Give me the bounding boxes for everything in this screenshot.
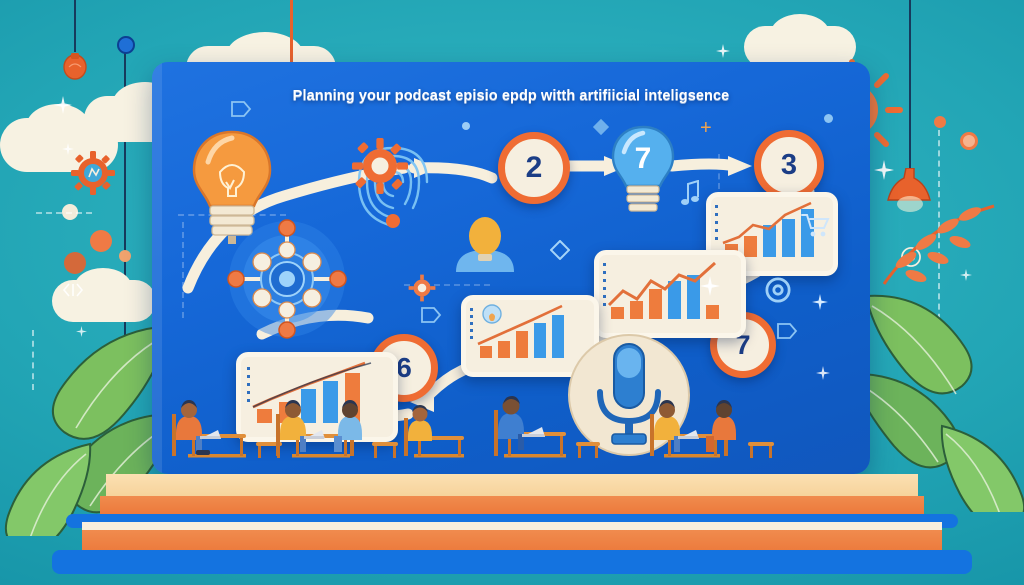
hanging-bulb-icon	[62, 50, 88, 82]
person-desk-7	[706, 400, 736, 456]
music-note-icon	[680, 180, 702, 206]
stage-lower-step	[82, 530, 942, 552]
fingerprint-dot	[386, 214, 400, 228]
sparkle-board-3	[816, 366, 830, 385]
person-bulb-icon	[450, 210, 520, 278]
step-badge-7-bulb-label: 7	[635, 142, 652, 175]
gear-icon-small-right	[762, 274, 794, 306]
network-hub-icon	[226, 218, 348, 340]
gear-icon-teal-left	[70, 150, 116, 196]
sparkle-2	[62, 142, 74, 160]
diamond-icon-board-2	[592, 118, 610, 136]
sparkle-board-1	[812, 294, 828, 315]
shopping-cart-icon	[800, 212, 830, 238]
step-badge-3-label: 3	[781, 151, 797, 180]
dot-orange-right-2	[960, 132, 978, 150]
stool-3	[576, 442, 600, 458]
dash-guide-left	[36, 212, 92, 214]
chart-panel-3[interactable]	[594, 250, 746, 338]
leaf-sprig-right	[880, 196, 1000, 292]
step-badge-2-label: 2	[526, 153, 543, 183]
step-badge-6-label: 6	[396, 354, 412, 382]
stool-2	[372, 442, 398, 458]
gear-icon-small-left	[408, 274, 436, 302]
presentation-board: Planning your podcast episio epdp witth …	[152, 62, 870, 474]
step-badge-3[interactable]: 3	[754, 130, 824, 200]
tag-icon-board	[230, 100, 252, 118]
board-title: Planning your podcast episio epdp witth …	[152, 88, 870, 104]
cloud-board-right-b	[770, 14, 830, 56]
dot-orange-bg-2	[119, 250, 131, 262]
dot-orange-bg-1	[90, 230, 112, 252]
person-desk-4	[404, 405, 464, 458]
gear-icon-teal-left-tiny	[64, 252, 86, 274]
hanging-bulb-cord	[74, 0, 76, 52]
pin-dot-blue	[117, 36, 135, 54]
person-desk-3	[334, 400, 362, 456]
pendant-lamp-cord	[909, 0, 911, 173]
diamond-icon-board	[550, 240, 570, 260]
dot-board-1	[824, 114, 833, 123]
dot-orange-right-1	[934, 116, 946, 128]
illustration-canvas: Planning your podcast episio epdp witth …	[0, 0, 1024, 585]
people-row	[152, 392, 870, 474]
sparkle-5	[716, 44, 730, 63]
stool-4	[748, 442, 774, 458]
sparkle-board-2	[700, 276, 720, 301]
stage-base	[52, 550, 972, 574]
plus-icon-board: +	[700, 118, 712, 138]
board-dash-2	[182, 222, 184, 318]
tag-icon-board-2	[420, 306, 442, 324]
person-desk-1	[172, 400, 246, 458]
stage-orange-step	[100, 496, 924, 514]
gear-icon-blue-large	[352, 138, 408, 194]
step-badge-2[interactable]: 2	[498, 132, 570, 204]
stage-top	[106, 474, 918, 496]
dot-board-2	[462, 122, 470, 130]
tag-icon-board-3	[776, 322, 798, 340]
step-badge-7-bulb[interactable]: 7	[608, 124, 678, 220]
person-desk-5	[494, 396, 566, 458]
sparkle-1	[54, 96, 72, 119]
